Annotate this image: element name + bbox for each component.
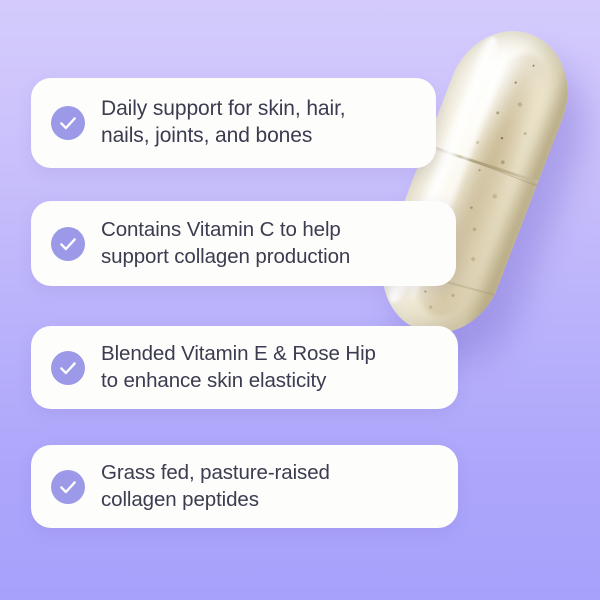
check-circle-icon [51,106,85,140]
benefit-card-3: Blended Vitamin E & Rose Hip to enhance … [31,326,458,409]
benefit-card-4: Grass fed, pasture-raised collagen pepti… [31,445,458,528]
benefit-text: Contains Vitamin C to help support colla… [101,217,350,269]
benefit-card-2: Contains Vitamin C to help support colla… [31,201,456,286]
product-benefits-graphic: Daily support for skin, hair, nails, joi… [0,0,600,600]
benefit-text: Blended Vitamin E & Rose Hip to enhance … [101,341,376,393]
check-circle-icon [51,227,85,261]
benefits-list: Daily support for skin, hair, nails, joi… [0,0,600,600]
check-circle-icon [51,351,85,385]
benefit-card-1: Daily support for skin, hair, nails, joi… [31,78,436,168]
benefit-text: Grass fed, pasture-raised collagen pepti… [101,460,330,512]
benefit-text: Daily support for skin, hair, nails, joi… [101,96,346,150]
check-circle-icon [51,470,85,504]
